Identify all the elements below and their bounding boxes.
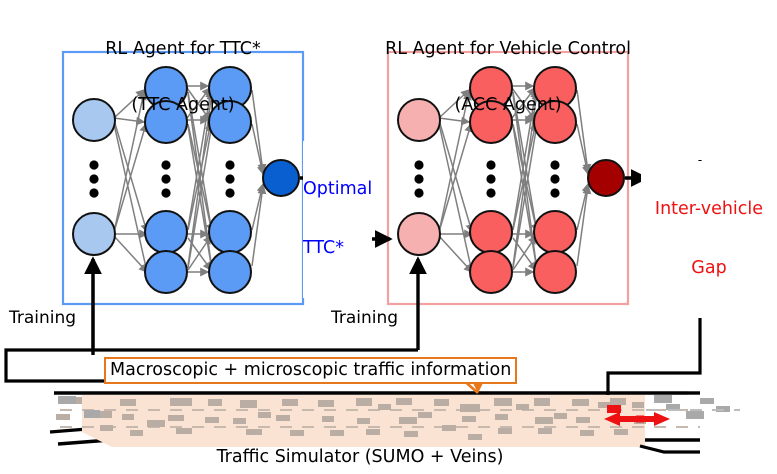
acc-agent-title: RL Agent for Vehicle Control (ACC Agent) [358,2,658,153]
ttc-hidden2-node [209,211,251,253]
ttc-agent-title: RL Agent for TTC* (TTC Agent) [63,2,303,153]
traffic-information-box: Macroscopic + microscopic traffic inform… [104,357,517,384]
ego-vehicle [607,405,621,413]
ttc-hidden2-node [209,251,251,293]
vehicles-free-right [654,395,730,419]
acc-agent-title-line1: RL Agent for Vehicle Control [358,40,658,59]
acc-hidden1-node [470,211,512,253]
simulator-caption: Traffic Simulator (SUMO + Veins) [140,448,580,467]
inter-vehicle-gap-label-line2: Gap [641,259,777,279]
diagram-canvas: RL Agent for TTC* (TTC Agent) RL Agent f… [0,0,777,474]
acc-training-label: Training [330,309,399,327]
road-exit-ramp [640,446,700,452]
acc-hidden1-node [470,251,512,293]
inter-vehicle-gap-label: Inter-vehicle Gap [641,161,777,318]
optimal-ttc-label: Optimal TTC* [303,141,372,298]
ttc-agent-title-line2: (TTC Agent) [63,96,303,115]
ttc-input-node [73,213,115,255]
ttc-output-node [263,160,299,196]
ttc-hidden1-node [145,251,187,293]
ttc-agent-title-line1: RL Agent for TTC* [63,40,303,59]
optimal-ttc-label-line1: Optimal [303,180,372,200]
acc-agent-title-line2: (ACC Agent) [358,96,658,115]
acc-output-node [588,160,624,196]
ttc-training-label: Training [8,309,77,327]
inter-vehicle-gap-label-line1: Inter-vehicle [641,200,777,220]
optimal-ttc-label-line2: TTC* [303,239,372,259]
acc-hidden2-node [534,211,576,253]
acc-hidden2-node [534,251,576,293]
ttc-hidden1-node [145,211,187,253]
acc-input-node [398,213,440,255]
